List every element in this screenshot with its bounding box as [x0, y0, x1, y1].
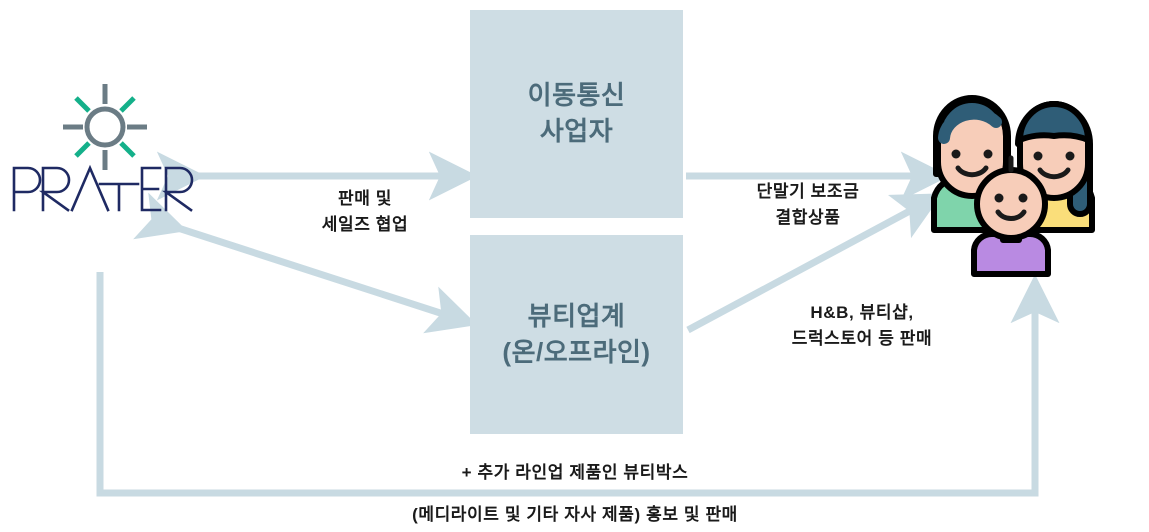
edge-label-sales-line2: 세일즈 협업 — [250, 212, 480, 238]
node-mobile-carrier-line1: 이동통신 — [528, 78, 626, 114]
child-head — [977, 170, 1045, 238]
edge-label-retail-line2: 드럭스토어 등 판매 — [742, 326, 982, 352]
family-icon — [920, 78, 1100, 278]
node-mobile-carrier[interactable]: 이동통신 사업자 — [470, 10, 683, 218]
edge-label-promotion-line2: (메디라이트 및 기타 자사 제품) 홍보 및 판매 — [210, 494, 940, 532]
edge-label-subsidy-line2: 결합상품 — [688, 205, 928, 231]
node-mobile-carrier-line2: 사업자 — [540, 114, 613, 150]
diagram-canvas: 이동통신 사업자 뷰티업계 (온/오프라인) 판매 및 세일즈 협업 단말기 보… — [0, 0, 1149, 532]
edge-label-sales: 판매 및 세일즈 협업 — [250, 186, 480, 239]
edge-label-sales-line1: 판매 및 — [250, 186, 480, 212]
edge-label-retail: H&B, 뷰티샵, 드럭스토어 등 판매 — [742, 300, 982, 353]
prater-wordmark — [8, 164, 198, 212]
edge-label-promotion: + 추가 라인업 제품인 뷰티박스 (메디라이트 및 기타 자사 제품) 홍보 … — [210, 452, 940, 532]
sun-icon — [55, 82, 155, 172]
node-beauty-industry-line2: (온/오프라인) — [502, 335, 650, 371]
edge-prater-beauty — [178, 228, 468, 322]
node-beauty-industry[interactable]: 뷰티업계 (온/오프라인) — [470, 235, 683, 434]
edge-label-retail-line1: H&B, 뷰티샵, — [742, 300, 982, 326]
edge-label-subsidy: 단말기 보조금 결합상품 — [688, 179, 928, 232]
node-beauty-industry-line1: 뷰티업계 — [528, 299, 626, 335]
edge-label-promotion-line1: + 추가 라인업 제품인 뷰티박스 — [210, 452, 940, 494]
prater-logo — [8, 82, 198, 214]
mother-fringe — [1020, 104, 1088, 140]
edge-label-subsidy-line1: 단말기 보조금 — [688, 179, 928, 205]
